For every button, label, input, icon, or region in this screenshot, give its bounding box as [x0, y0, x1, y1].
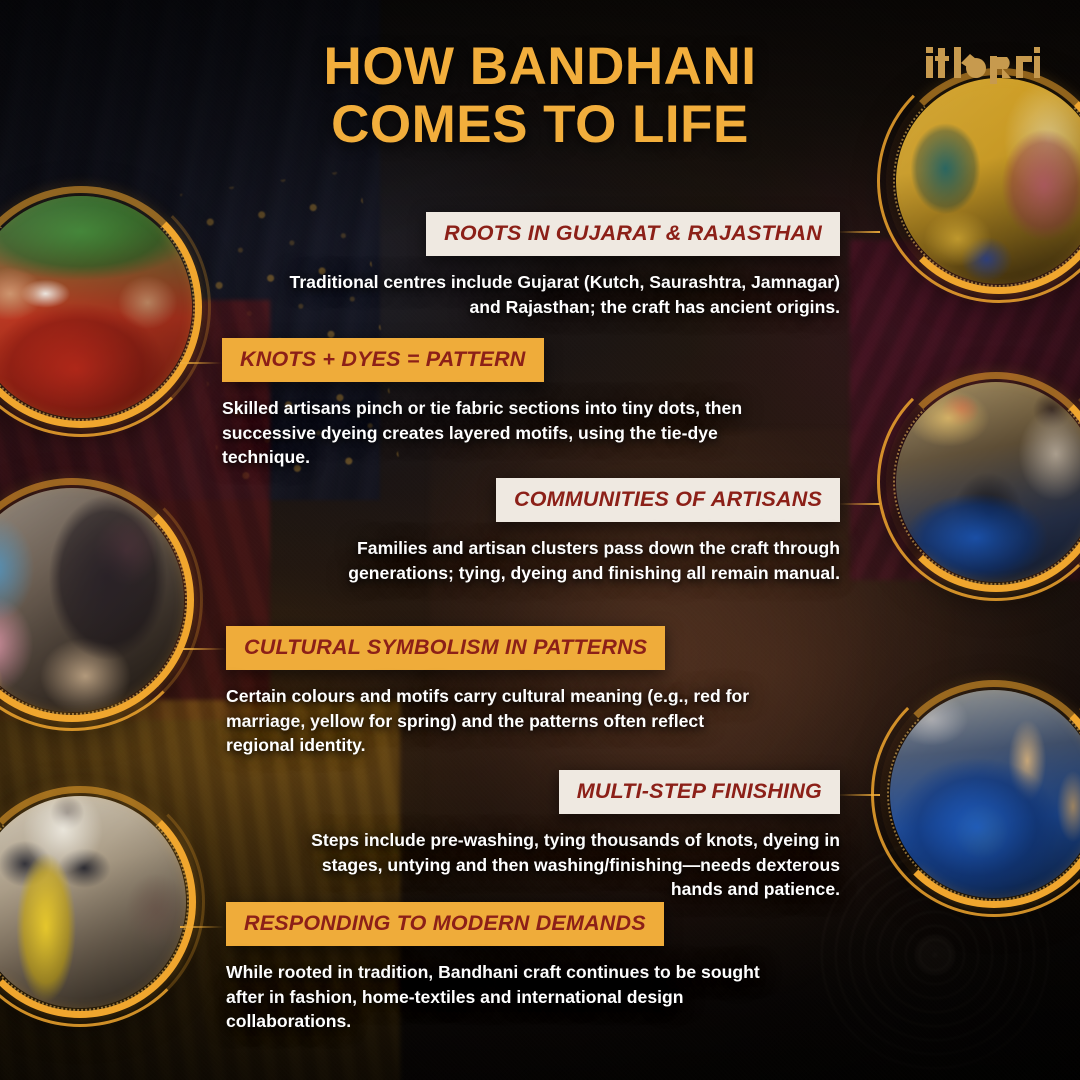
infographic-poster: HOW BANDHANI COMES TO LIFE: [0, 0, 1080, 1080]
brand-logo[interactable]: [924, 44, 1042, 84]
photo-blue-dye-vat: [890, 690, 1080, 898]
section-communities: COMMUNITIES OF ARTISANS Families and art…: [238, 478, 840, 585]
connector-symbolism: [182, 648, 226, 650]
section-knots-body: Skilled artisans pinch or tie fabric sec…: [222, 396, 762, 470]
title-line-2: COMES TO LIFE: [0, 96, 1080, 154]
section-communities-body: Families and artisan clusters pass down …: [238, 536, 840, 585]
section-communities-heading: COMMUNITIES OF ARTISANS: [496, 478, 840, 522]
page-title: HOW BANDHANI COMES TO LIFE: [0, 38, 1080, 155]
photo-red-fabric-hands: [0, 196, 192, 418]
section-roots-body: Traditional centres include Gujarat (Kut…: [238, 270, 840, 319]
connector-knots: [180, 362, 222, 364]
connector-communities: [838, 503, 880, 505]
section-modern-body: While rooted in tradition, Bandhani craf…: [226, 960, 774, 1034]
photo-glove-dyer: [896, 382, 1080, 582]
section-roots: ROOTS IN GUJARAT & RAJASTHAN Traditional…: [238, 212, 840, 319]
photo-artisan-woman: [0, 488, 184, 712]
title-line-1: HOW BANDHANI: [0, 38, 1080, 96]
section-finishing-body: Steps include pre-washing, tying thousan…: [300, 828, 840, 902]
section-finishing: MULTI-STEP FINISHING Steps include pre-w…: [300, 770, 840, 902]
section-roots-heading: ROOTS IN GUJARAT & RAJASTHAN: [426, 212, 840, 256]
section-symbolism-body: Certain colours and motifs carry cultura…: [226, 684, 766, 758]
section-finishing-heading: MULTI-STEP FINISHING: [559, 770, 840, 814]
section-modern: RESPONDING TO MODERN DEMANDS While roote…: [226, 902, 796, 1034]
section-modern-heading: RESPONDING TO MODERN DEMANDS: [226, 902, 664, 946]
connector-roots: [836, 231, 880, 233]
section-symbolism-heading: CULTURAL SYMBOLISM IN PATTERNS: [226, 626, 665, 670]
itokri-logo-icon: [924, 44, 1042, 84]
section-knots: KNOTS + DYES = PATTERN Skilled artisans …: [222, 338, 782, 470]
connector-finishing: [836, 794, 880, 796]
section-knots-heading: KNOTS + DYES = PATTERN: [222, 338, 544, 382]
section-symbolism: CULTURAL SYMBOLISM IN PATTERNS Certain c…: [226, 626, 796, 758]
connector-modern: [180, 926, 224, 928]
photo-yellow-skeins: [0, 796, 186, 1008]
